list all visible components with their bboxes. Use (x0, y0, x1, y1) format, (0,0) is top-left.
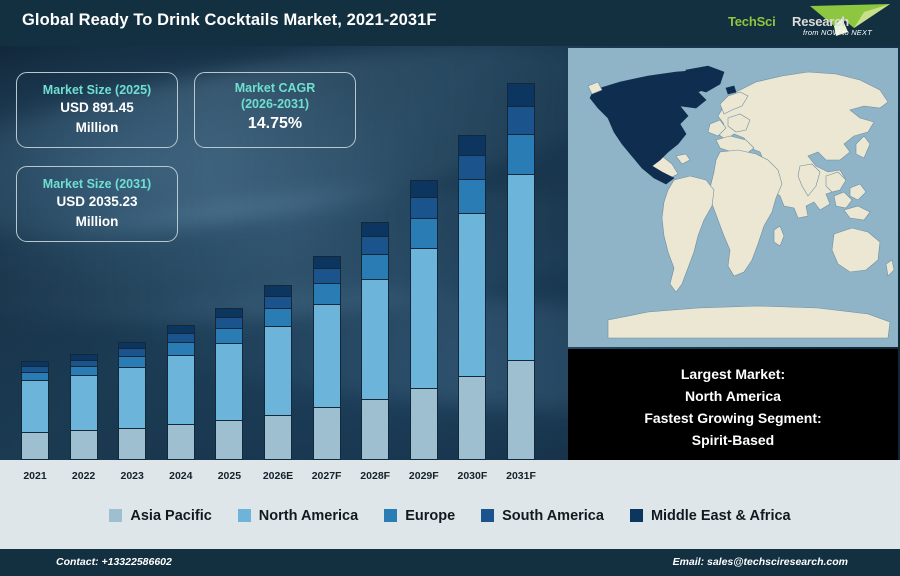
bar-segment-south-america[interactable] (410, 197, 438, 218)
bar-2025[interactable] (215, 308, 243, 460)
infographic-canvas: Global Ready To Drink Cocktails Market, … (0, 0, 900, 576)
bar-segment-europe[interactable] (70, 366, 98, 375)
bar-segment-south-america[interactable] (507, 106, 535, 134)
bar-segment-asia-pacific[interactable] (118, 428, 146, 460)
legend-swatch (238, 509, 251, 522)
x-axis-tick-2024: 2024 (158, 470, 204, 482)
bar-2022[interactable] (70, 354, 98, 460)
bar-segment-asia-pacific[interactable] (361, 399, 389, 460)
highlight-largest-market-value: North America (685, 385, 781, 407)
bar-segment-asia-pacific[interactable] (264, 415, 292, 460)
legend-swatch (109, 509, 122, 522)
bar-segment-asia-pacific[interactable] (167, 424, 195, 460)
legend-label: Europe (405, 508, 455, 524)
bar-segment-north-america[interactable] (507, 174, 535, 361)
bar-2024[interactable] (167, 325, 195, 460)
bar-segment-europe[interactable] (361, 254, 389, 279)
chart-legend: Asia PacificNorth AmericaEuropeSouth Ame… (0, 486, 900, 545)
chart-stage: Market Size (2025) USD 891.45 Million Ma… (0, 46, 900, 486)
page-title: Global Ready To Drink Cocktails Market, … (22, 11, 437, 30)
bar-segment-europe[interactable] (118, 356, 146, 367)
legend-swatch (481, 509, 494, 522)
bar-segment-middle-east-africa[interactable] (215, 308, 243, 317)
bar-segment-south-america[interactable] (458, 155, 486, 179)
x-axis-tick-2025: 2025 (206, 470, 252, 482)
legend-label: South America (502, 508, 604, 524)
bar-segment-north-america[interactable] (70, 375, 98, 430)
bar-2023[interactable] (118, 342, 146, 460)
bar-segment-middle-east-africa[interactable] (167, 325, 195, 333)
bar-segment-asia-pacific[interactable] (313, 407, 341, 460)
bar-segment-europe[interactable] (507, 134, 535, 174)
bar-segment-middle-east-africa[interactable] (313, 256, 341, 268)
logo-text-techsci: TechSci (728, 14, 776, 29)
bar-segment-north-america[interactable] (264, 326, 292, 415)
bar-segment-south-america[interactable] (167, 333, 195, 342)
x-axis-tick-2030F: 2030F (449, 470, 495, 482)
legend-label: North America (259, 508, 358, 524)
bar-segment-middle-east-africa[interactable] (458, 135, 486, 155)
bar-segment-middle-east-africa[interactable] (264, 285, 292, 295)
world-map (568, 48, 898, 347)
x-axis-tick-2031F: 2031F (498, 470, 544, 482)
logo-tagline: from NOW to NEXT (803, 28, 872, 37)
bar-segment-middle-east-africa[interactable] (507, 83, 535, 106)
x-axis-tick-2026E: 2026E (255, 470, 301, 482)
bar-2029F[interactable] (410, 180, 438, 460)
bar-segment-north-america[interactable] (410, 248, 438, 388)
bar-segment-europe[interactable] (264, 308, 292, 326)
header-bar: Global Ready To Drink Cocktails Market, … (0, 0, 900, 46)
x-axis-tick-2021: 2021 (12, 470, 58, 482)
bar-segment-north-america[interactable] (167, 355, 195, 424)
bar-segment-asia-pacific[interactable] (70, 430, 98, 460)
bar-segment-middle-east-africa[interactable] (410, 180, 438, 197)
bar-segment-middle-east-africa[interactable] (118, 342, 146, 349)
bar-segment-north-america[interactable] (313, 304, 341, 407)
bar-segment-asia-pacific[interactable] (21, 432, 49, 460)
x-axis-tick-2028F: 2028F (352, 470, 398, 482)
x-axis-labels: 202120222023202420252026E2027F2028F2029F… (0, 460, 565, 486)
bar-2021[interactable] (21, 361, 49, 460)
legend-swatch (384, 509, 397, 522)
legend-swatch (630, 509, 643, 522)
bar-segment-asia-pacific[interactable] (215, 420, 243, 460)
bar-segment-europe[interactable] (313, 283, 341, 304)
world-map-panel (568, 48, 898, 347)
legend-label: Middle East & Africa (651, 508, 791, 524)
bar-segment-asia-pacific[interactable] (458, 376, 486, 460)
bar-segment-north-america[interactable] (361, 279, 389, 399)
bar-segment-north-america[interactable] (118, 367, 146, 428)
bar-segment-south-america[interactable] (361, 236, 389, 254)
x-axis-tick-2023: 2023 (109, 470, 155, 482)
x-axis-tick-2029F: 2029F (401, 470, 447, 482)
bar-segment-south-america[interactable] (70, 360, 98, 367)
bar-segment-south-america[interactable] (215, 317, 243, 328)
footer-contact: Contact: +13322586602 (56, 556, 172, 568)
bar-2031F[interactable] (507, 83, 535, 460)
bar-segment-europe[interactable] (410, 218, 438, 248)
market-highlight-box: Largest Market: North America Fastest Gr… (568, 349, 898, 464)
legend-label: Asia Pacific (130, 508, 211, 524)
x-axis-tick-2027F: 2027F (304, 470, 350, 482)
bar-segment-north-america[interactable] (458, 213, 486, 376)
bar-segment-north-america[interactable] (215, 343, 243, 421)
techsci-research-logo: TechSci Research from NOW to NEXT (714, 2, 894, 44)
footer-email: Email: sales@techsciresearch.com (673, 556, 848, 568)
highlight-fastest-segment-label: Fastest Growing Segment: (644, 407, 821, 429)
stacked-bar-chart (0, 46, 565, 486)
footer-bar: Contact: +13322586602 Email: sales@techs… (0, 549, 900, 576)
highlight-fastest-segment-value: Spirit-Based (692, 429, 774, 451)
legend-item-middle-east-africa[interactable]: Middle East & Africa (630, 508, 791, 524)
bar-2027F[interactable] (313, 256, 341, 460)
legend-item-north-america[interactable]: North America (238, 508, 358, 524)
bar-segment-north-america[interactable] (21, 380, 49, 433)
legend-item-south-america[interactable]: South America (481, 508, 604, 524)
bar-segment-europe[interactable] (167, 342, 195, 355)
logo-text-research: Research (792, 14, 849, 29)
bar-segment-middle-east-africa[interactable] (361, 222, 389, 236)
bar-segment-asia-pacific[interactable] (507, 360, 535, 460)
legend-item-asia-pacific[interactable]: Asia Pacific (109, 508, 211, 524)
bar-segment-south-america[interactable] (264, 296, 292, 309)
bar-2026E[interactable] (264, 285, 292, 460)
x-axis-tick-2022: 2022 (61, 470, 107, 482)
bar-segment-asia-pacific[interactable] (410, 388, 438, 460)
bar-segment-europe[interactable] (458, 179, 486, 213)
bar-segment-europe[interactable] (215, 328, 243, 343)
bar-2030F[interactable] (458, 135, 486, 460)
legend-item-europe[interactable]: Europe (384, 508, 455, 524)
bar-2028F[interactable] (361, 222, 389, 460)
bar-segment-europe[interactable] (21, 372, 49, 379)
bar-segment-south-america[interactable] (313, 268, 341, 283)
highlight-largest-market-label: Largest Market: (681, 363, 785, 385)
bar-segment-south-america[interactable] (118, 348, 146, 356)
